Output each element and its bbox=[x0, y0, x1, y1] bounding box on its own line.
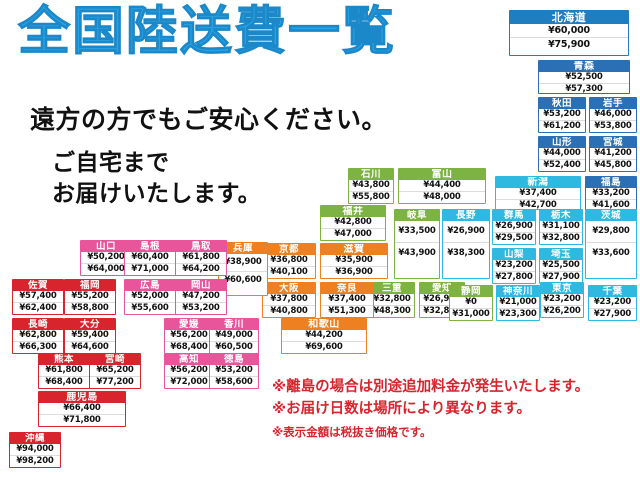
prefecture-name: 岡山 bbox=[176, 280, 226, 291]
prefecture-name: 青森 bbox=[539, 61, 629, 72]
price-large: ¥31,000 bbox=[450, 308, 492, 320]
price-large: ¥72,000 bbox=[165, 376, 213, 388]
price-large: ¥57,300 bbox=[539, 83, 629, 94]
prefecture-name: 鹿児島 bbox=[39, 392, 125, 403]
prefecture-prices: ¥61,800¥64,200 bbox=[176, 252, 226, 275]
prefecture-box: 青森¥52,500¥57,300 bbox=[538, 60, 630, 94]
prefecture-prices: ¥55,200¥58,800 bbox=[65, 291, 115, 314]
price-standard: ¥23,200 bbox=[589, 297, 636, 308]
price-large: ¥40,100 bbox=[263, 266, 315, 278]
prefecture-box: 埼玉¥25,500¥27,900 bbox=[539, 248, 583, 284]
prefecture-box: 徳島¥53,200¥58,600 bbox=[209, 353, 259, 389]
price-standard: ¥47,200 bbox=[176, 291, 226, 302]
price-standard: ¥60,400 bbox=[125, 252, 175, 263]
note-tax: ※表示金額は税抜き価格です。 bbox=[272, 423, 638, 441]
prefecture-prices: ¥31,100¥32,800 bbox=[540, 221, 582, 244]
price-standard: ¥52,000 bbox=[125, 291, 175, 302]
prefecture-prices: ¥26,900¥29,500 bbox=[493, 221, 535, 244]
price-standard: ¥33,200 bbox=[586, 188, 636, 199]
price-standard: ¥44,400 bbox=[399, 180, 485, 191]
price-large: ¥43,900 bbox=[395, 242, 439, 264]
prefecture-box: 静岡¥0¥31,000 bbox=[449, 285, 493, 321]
price-standard: ¥21,000 bbox=[497, 297, 539, 308]
price-standard: ¥35,900 bbox=[321, 255, 387, 266]
prefecture-name: 岩手 bbox=[590, 98, 636, 109]
subtitle-secondary: ご自宅まで お届けいたします。 bbox=[52, 148, 261, 210]
price-standard: ¥43,800 bbox=[349, 180, 393, 191]
prefecture-prices: ¥60,400¥71,000 bbox=[125, 252, 175, 275]
price-standard: ¥53,200 bbox=[210, 365, 258, 376]
prefecture-box: 愛媛¥56,200¥68,400 bbox=[164, 318, 214, 354]
price-large: ¥26,200 bbox=[541, 305, 583, 317]
prefecture-name: 栃木 bbox=[540, 210, 582, 221]
price-standard: ¥52,500 bbox=[539, 72, 629, 83]
price-standard: ¥41,200 bbox=[590, 148, 636, 159]
prefecture-box: 鳥取¥61,800¥64,200 bbox=[175, 240, 227, 276]
price-large: ¥45,800 bbox=[590, 159, 636, 171]
price-large: ¥68,400 bbox=[39, 376, 89, 388]
price-standard: ¥0 bbox=[450, 297, 492, 308]
price-large: ¥36,900 bbox=[321, 266, 387, 278]
prefecture-box: 岐阜¥33,500¥43,900 bbox=[394, 209, 440, 279]
prefecture-name: 東京 bbox=[541, 283, 583, 294]
price-standard: ¥36,800 bbox=[263, 255, 315, 266]
prefecture-name: 石川 bbox=[349, 169, 393, 180]
prefecture-box: 和歌山¥44,200¥69,600 bbox=[281, 318, 367, 354]
price-large: ¥61,200 bbox=[539, 120, 585, 132]
price-standard: ¥26,900 bbox=[493, 221, 535, 232]
prefecture-prices: ¥36,800¥40,100 bbox=[263, 255, 315, 278]
prefecture-box: 神奈川¥21,000¥23,300 bbox=[496, 285, 540, 321]
prefecture-box: 秋田¥53,200¥61,200 bbox=[538, 97, 586, 133]
price-standard: ¥62,800 bbox=[13, 330, 63, 341]
prefecture-box: 富山¥44,400¥48,000 bbox=[398, 168, 486, 204]
price-standard: ¥59,400 bbox=[65, 330, 115, 341]
price-standard: ¥53,200 bbox=[539, 109, 585, 120]
prefecture-prices: ¥29,800¥33,600 bbox=[586, 221, 636, 264]
page-title: 全国陸送費一覧 bbox=[18, 6, 396, 58]
price-large: ¥53,200 bbox=[176, 302, 226, 314]
price-standard: ¥44,000 bbox=[539, 148, 585, 159]
prefecture-name: 長崎 bbox=[13, 319, 63, 330]
prefecture-box: 群馬¥26,900¥29,500 bbox=[492, 209, 536, 245]
prefecture-name: 北海道 bbox=[510, 11, 628, 24]
price-standard: ¥56,200 bbox=[165, 330, 213, 341]
prefecture-name: 沖縄 bbox=[10, 433, 60, 444]
price-standard: ¥61,800 bbox=[39, 365, 89, 376]
prefecture-prices: ¥33,200¥41,600 bbox=[586, 188, 636, 210]
price-large: ¥51,300 bbox=[321, 305, 373, 317]
price-standard: ¥46,000 bbox=[590, 109, 636, 120]
price-large: ¥32,800 bbox=[540, 232, 582, 244]
subtitle-primary: 遠方の方でもご安心ください。 bbox=[30, 100, 387, 136]
prefecture-prices: ¥53,200¥58,600 bbox=[210, 365, 258, 388]
price-large: ¥55,800 bbox=[349, 191, 393, 203]
prefecture-prices: ¥37,400¥42,700 bbox=[496, 188, 580, 210]
price-standard: ¥56,200 bbox=[165, 365, 213, 376]
price-standard: ¥42,800 bbox=[321, 217, 385, 228]
prefecture-box: 北海道¥60,000¥75,900 bbox=[509, 10, 629, 56]
price-large: ¥52,400 bbox=[539, 159, 585, 171]
prefecture-prices: ¥66,400¥71,800 bbox=[39, 403, 125, 426]
prefecture-name: 三重 bbox=[370, 283, 414, 294]
prefecture-box: 石川¥43,800¥55,800 bbox=[348, 168, 394, 204]
prefecture-prices: ¥56,200¥72,000 bbox=[165, 365, 213, 388]
price-large: ¥68,400 bbox=[165, 341, 213, 353]
prefecture-name: 静岡 bbox=[450, 286, 492, 297]
prefecture-box: 宮崎¥65,200¥77,200 bbox=[89, 353, 141, 389]
transport-fee-chart: 全国陸送費一覧 遠方の方でもご安心ください。 ご自宅まで お届けいたします。 ※… bbox=[0, 0, 640, 480]
prefecture-name: 愛媛 bbox=[165, 319, 213, 330]
prefecture-name: 熊本 bbox=[39, 354, 89, 365]
prefecture-prices: ¥25,500¥27,900 bbox=[540, 260, 582, 283]
prefecture-box: 鹿児島¥66,400¥71,800 bbox=[38, 391, 126, 427]
prefecture-box: 山形¥44,000¥52,400 bbox=[538, 136, 586, 172]
prefecture-prices: ¥23,200¥27,900 bbox=[589, 297, 636, 320]
price-large: ¥23,300 bbox=[497, 308, 539, 320]
price-large: ¥38,300 bbox=[443, 242, 489, 264]
price-large: ¥58,600 bbox=[210, 376, 258, 388]
prefecture-name: 福井 bbox=[321, 206, 385, 217]
prefecture-prices: ¥43,800¥55,800 bbox=[349, 180, 393, 203]
prefecture-prices: ¥49,000¥60,500 bbox=[210, 330, 258, 353]
price-large: ¥29,500 bbox=[493, 232, 535, 244]
note-islands: ※離島の場合は別途追加料金が発生いたします。 bbox=[272, 376, 638, 398]
price-standard: ¥60,000 bbox=[510, 24, 628, 37]
prefecture-prices: ¥32,800¥48,300 bbox=[370, 294, 414, 317]
prefecture-name: 神奈川 bbox=[497, 286, 539, 297]
prefecture-name: 群馬 bbox=[493, 210, 535, 221]
prefecture-prices: ¥60,000¥75,900 bbox=[510, 24, 628, 51]
prefecture-box: 三重¥32,800¥48,300 bbox=[369, 282, 415, 318]
prefecture-box: 熊本¥61,800¥68,400 bbox=[38, 353, 90, 389]
price-large: ¥27,900 bbox=[589, 308, 636, 320]
price-standard: ¥25,500 bbox=[540, 260, 582, 271]
price-large: ¥48,000 bbox=[399, 191, 485, 203]
prefecture-name: 山形 bbox=[539, 137, 585, 148]
prefecture-prices: ¥44,000¥52,400 bbox=[539, 148, 585, 171]
prefecture-box: 岡山¥47,200¥53,200 bbox=[175, 279, 227, 315]
price-standard: ¥49,000 bbox=[210, 330, 258, 341]
prefecture-prices: ¥59,400¥64,600 bbox=[65, 330, 115, 353]
prefecture-name: 香川 bbox=[210, 319, 258, 330]
prefecture-prices: ¥65,200¥77,200 bbox=[90, 365, 140, 388]
prefecture-name: 福岡 bbox=[65, 280, 115, 291]
prefecture-name: 大阪 bbox=[263, 283, 315, 294]
prefecture-box: 奈良¥37,400¥51,300 bbox=[320, 282, 374, 318]
disclaimer-notes: ※離島の場合は別途追加料金が発生いたします。 ※お届け日数は場所により異なります… bbox=[272, 376, 638, 441]
price-large: ¥66,300 bbox=[13, 341, 63, 353]
price-large: ¥40,800 bbox=[263, 305, 315, 317]
prefecture-box: 新潟¥37,400¥42,700 bbox=[495, 176, 581, 210]
prefecture-name: 千葉 bbox=[589, 286, 636, 297]
prefecture-name: 滋賀 bbox=[321, 244, 387, 255]
prefecture-box: 福井¥42,800¥47,000 bbox=[320, 205, 386, 241]
prefecture-prices: ¥42,800¥47,000 bbox=[321, 217, 385, 240]
price-standard: ¥37,400 bbox=[321, 294, 373, 305]
prefecture-box: 福岡¥55,200¥58,800 bbox=[64, 279, 116, 315]
price-standard: ¥57,400 bbox=[13, 291, 63, 302]
prefecture-prices: ¥57,400¥62,400 bbox=[13, 291, 63, 314]
prefecture-name: 新潟 bbox=[496, 177, 580, 188]
price-standard: ¥66,400 bbox=[39, 403, 125, 414]
prefecture-name: 茨城 bbox=[586, 210, 636, 221]
prefecture-box: 茨城¥29,800¥33,600 bbox=[585, 209, 637, 279]
prefecture-box: 広島¥52,000¥55,600 bbox=[124, 279, 176, 315]
prefecture-prices: ¥61,800¥68,400 bbox=[39, 365, 89, 388]
price-large: ¥55,600 bbox=[125, 302, 175, 314]
prefecture-name: 岐阜 bbox=[395, 210, 439, 221]
prefecture-prices: ¥46,000¥53,800 bbox=[590, 109, 636, 132]
price-standard: ¥23,200 bbox=[541, 294, 583, 305]
price-large: ¥27,800 bbox=[493, 271, 535, 283]
prefecture-box: 大分¥59,400¥64,600 bbox=[64, 318, 116, 354]
price-large: ¥53,800 bbox=[590, 120, 636, 132]
price-standard: ¥32,800 bbox=[370, 294, 414, 305]
price-large: ¥75,900 bbox=[510, 37, 628, 51]
prefecture-box: 福島¥33,200¥41,600 bbox=[585, 176, 637, 210]
price-standard: ¥94,000 bbox=[10, 444, 60, 455]
price-standard: ¥33,500 bbox=[395, 221, 439, 242]
prefecture-box: 高知¥56,200¥72,000 bbox=[164, 353, 214, 389]
prefecture-prices: ¥21,000¥23,300 bbox=[497, 297, 539, 320]
price-large: ¥71,000 bbox=[125, 263, 175, 275]
subtitle-secondary-line2: お届けいたします。 bbox=[52, 179, 261, 210]
price-large: ¥71,800 bbox=[39, 414, 125, 426]
price-standard: ¥26,900 bbox=[443, 221, 489, 242]
price-standard: ¥31,100 bbox=[540, 221, 582, 232]
prefecture-name: 富山 bbox=[399, 169, 485, 180]
prefecture-name: 鳥取 bbox=[176, 241, 226, 252]
price-large: ¥62,400 bbox=[13, 302, 63, 314]
prefecture-box: 京都¥36,800¥40,100 bbox=[262, 243, 316, 279]
prefecture-prices: ¥23,200¥26,200 bbox=[541, 294, 583, 317]
prefecture-box: 島根¥60,400¥71,000 bbox=[124, 240, 176, 276]
prefecture-prices: ¥23,200¥27,800 bbox=[493, 260, 535, 283]
price-standard: ¥29,800 bbox=[586, 221, 636, 242]
prefecture-prices: ¥44,400¥48,000 bbox=[399, 180, 485, 203]
price-large: ¥58,800 bbox=[65, 302, 115, 314]
note-delivery-days: ※お届け日数は場所により異なります。 bbox=[272, 398, 638, 420]
subtitle-secondary-line1: ご自宅まで bbox=[52, 148, 261, 179]
prefecture-box: 宮城¥41,200¥45,800 bbox=[589, 136, 637, 172]
prefecture-prices: ¥94,000¥98,200 bbox=[10, 444, 60, 467]
prefecture-prices: ¥37,400¥51,300 bbox=[321, 294, 373, 317]
prefecture-box: 栃木¥31,100¥32,800 bbox=[539, 209, 583, 245]
prefecture-name: 大分 bbox=[65, 319, 115, 330]
prefecture-name: 京都 bbox=[263, 244, 315, 255]
prefecture-name: 埼玉 bbox=[540, 249, 582, 260]
prefecture-box: 山梨¥23,200¥27,800 bbox=[492, 248, 536, 284]
price-standard: ¥65,200 bbox=[90, 365, 140, 376]
prefecture-prices: ¥37,800¥40,800 bbox=[263, 294, 315, 317]
price-large: ¥98,200 bbox=[10, 455, 60, 467]
prefecture-name: 島根 bbox=[125, 241, 175, 252]
prefecture-prices: ¥52,500¥57,300 bbox=[539, 72, 629, 94]
prefecture-name: 徳島 bbox=[210, 354, 258, 365]
prefecture-box: 沖縄¥94,000¥98,200 bbox=[9, 432, 61, 468]
prefecture-name: 奈良 bbox=[321, 283, 373, 294]
price-standard: ¥37,800 bbox=[263, 294, 315, 305]
prefecture-name: 広島 bbox=[125, 280, 175, 291]
prefecture-prices: ¥26,900¥38,300 bbox=[443, 221, 489, 264]
prefecture-name: 佐賀 bbox=[13, 280, 63, 291]
price-large: ¥64,600 bbox=[65, 341, 115, 353]
prefecture-name: 宮崎 bbox=[90, 354, 140, 365]
prefecture-prices: ¥62,800¥66,300 bbox=[13, 330, 63, 353]
prefecture-box: 大阪¥37,800¥40,800 bbox=[262, 282, 316, 318]
price-large: ¥47,000 bbox=[321, 228, 385, 240]
prefecture-prices: ¥53,200¥61,200 bbox=[539, 109, 585, 132]
price-standard: ¥23,200 bbox=[493, 260, 535, 271]
prefecture-prices: ¥0¥31,000 bbox=[450, 297, 492, 320]
prefecture-name: 山梨 bbox=[493, 249, 535, 260]
price-large: ¥77,200 bbox=[90, 376, 140, 388]
prefecture-name: 福島 bbox=[586, 177, 636, 188]
prefecture-name: 宮城 bbox=[590, 137, 636, 148]
price-standard: ¥44,200 bbox=[282, 330, 366, 341]
prefecture-box: 千葉¥23,200¥27,900 bbox=[588, 285, 637, 321]
price-standard: ¥37,400 bbox=[496, 188, 580, 199]
price-standard: ¥55,200 bbox=[65, 291, 115, 302]
prefecture-box: 東京¥23,200¥26,200 bbox=[540, 282, 584, 318]
prefecture-prices: ¥41,200¥45,800 bbox=[590, 148, 636, 171]
price-standard: ¥61,800 bbox=[176, 252, 226, 263]
price-large: ¥48,300 bbox=[370, 305, 414, 317]
prefecture-box: 香川¥49,000¥60,500 bbox=[209, 318, 259, 354]
prefecture-prices: ¥33,500¥43,900 bbox=[395, 221, 439, 264]
price-large: ¥33,600 bbox=[586, 242, 636, 264]
prefecture-prices: ¥44,200¥69,600 bbox=[282, 330, 366, 353]
prefecture-prices: ¥47,200¥53,200 bbox=[176, 291, 226, 314]
price-large: ¥60,500 bbox=[210, 341, 258, 353]
prefecture-box: 岩手¥46,000¥53,800 bbox=[589, 97, 637, 133]
prefecture-name: 長野 bbox=[443, 210, 489, 221]
price-large: ¥64,200 bbox=[176, 263, 226, 275]
prefecture-name: 秋田 bbox=[539, 98, 585, 109]
prefecture-prices: ¥56,200¥68,400 bbox=[165, 330, 213, 353]
price-large: ¥69,600 bbox=[282, 341, 366, 353]
prefecture-name: 和歌山 bbox=[282, 319, 366, 330]
prefecture-box: 佐賀¥57,400¥62,400 bbox=[12, 279, 64, 315]
prefecture-prices: ¥35,900¥36,900 bbox=[321, 255, 387, 278]
prefecture-box: 滋賀¥35,900¥36,900 bbox=[320, 243, 388, 279]
prefecture-box: 長崎¥62,800¥66,300 bbox=[12, 318, 64, 354]
prefecture-name: 高知 bbox=[165, 354, 213, 365]
prefecture-box: 長野¥26,900¥38,300 bbox=[442, 209, 490, 279]
prefecture-prices: ¥52,000¥55,600 bbox=[125, 291, 175, 314]
